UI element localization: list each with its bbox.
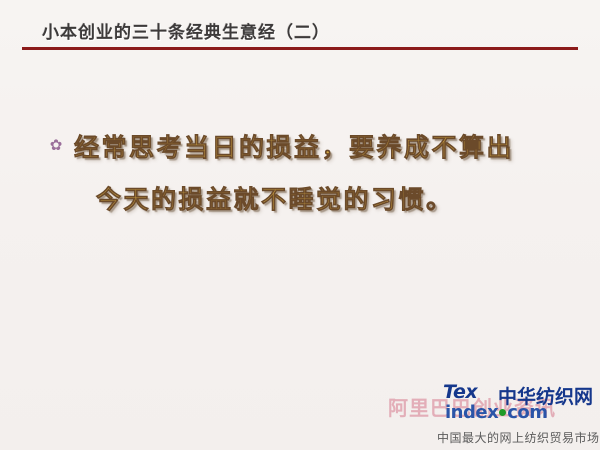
- slide-header: 小本创业的三十条经典生意经（二）: [0, 0, 600, 56]
- logo-domain-left: index: [445, 402, 498, 423]
- page-title: 小本创业的三十条经典生意经（二）: [42, 18, 330, 43]
- body-text-line-1: 经常思考当日的损益，要养成不算出: [74, 128, 514, 164]
- logo-tex-text: Tex: [443, 381, 477, 403]
- flower-bullet-icon: ✿: [48, 138, 64, 154]
- logo-tagline: 中国最大的网上纺织贸易市场: [437, 429, 600, 446]
- body-text-line-2: 今天的损益就不睡觉的习惯。: [96, 180, 454, 216]
- logo-chinese-name: 中华纺织网: [498, 382, 593, 409]
- title-divider: [22, 47, 578, 50]
- watermark-layer: 阿里巴巴创业资讯 Tex 中华纺织网 indexcom 中国最大的网上纺织贸易市…: [0, 0, 600, 450]
- textile-site-logo: Tex 中华纺织网 indexcom: [443, 381, 593, 429]
- slide-canvas: 小本创业的三十条经典生意经（二） ✿ 经常思考当日的损益，要养成不算出 今天的损…: [0, 0, 600, 450]
- alibaba-watermark-text: 阿里巴巴创业资讯: [388, 392, 556, 421]
- logo-domain: indexcom: [445, 402, 547, 423]
- green-dot-icon: [499, 409, 506, 416]
- logo-domain-right: com: [507, 402, 547, 423]
